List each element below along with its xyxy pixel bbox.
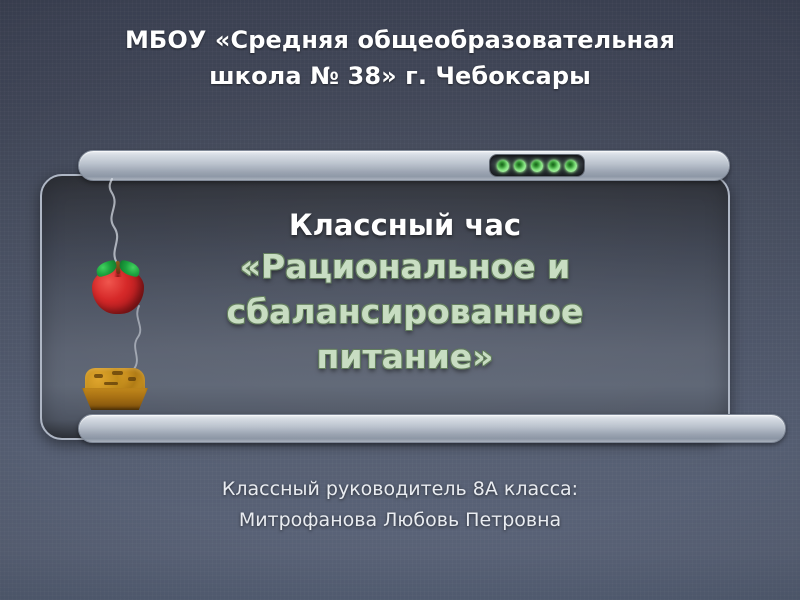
led-indicator-strip <box>489 154 585 177</box>
title-main-line-2: сбалансированное <box>150 289 660 334</box>
top-chrome-bar <box>78 150 730 181</box>
pie-crumb <box>128 377 136 381</box>
presentation-slide: МБОУ «Средняя общеобразовательная школа … <box>0 0 800 600</box>
school-name-header: МБОУ «Средняя общеобразовательная школа … <box>0 22 800 94</box>
title-main: «Рациональное и сбалансированное питание… <box>150 244 660 379</box>
led-indicator-icon <box>565 160 577 172</box>
pie-crumb <box>112 371 123 375</box>
pie-icon <box>82 364 148 410</box>
led-indicator-icon <box>531 160 543 172</box>
apple-cleft <box>114 268 122 277</box>
school-name-line-2: школа № 38» г. Чебоксары <box>0 58 800 94</box>
title-kicker: Классный час <box>150 206 660 244</box>
slide-footer: Классный руководитель 8А класса: Митрофа… <box>0 474 800 536</box>
pie-crumb <box>104 382 118 385</box>
led-indicator-icon <box>514 160 526 172</box>
bottom-chrome-bar <box>78 414 786 443</box>
led-indicator-icon <box>548 160 560 172</box>
pie-crumb <box>94 374 103 378</box>
footer-line-1: Классный руководитель 8А класса: <box>0 474 800 505</box>
title-main-line-3: питание» <box>150 334 660 379</box>
slide-title: Классный час «Рациональное и сбалансиров… <box>150 206 660 379</box>
led-indicator-icon <box>497 160 509 172</box>
footer-line-2: Митрофанова Любовь Петровна <box>0 505 800 536</box>
pie-dish <box>82 388 148 410</box>
title-main-line-1: «Рациональное и <box>150 244 660 289</box>
apple-icon <box>92 258 144 314</box>
school-name-line-1: МБОУ «Средняя общеобразовательная <box>0 22 800 58</box>
